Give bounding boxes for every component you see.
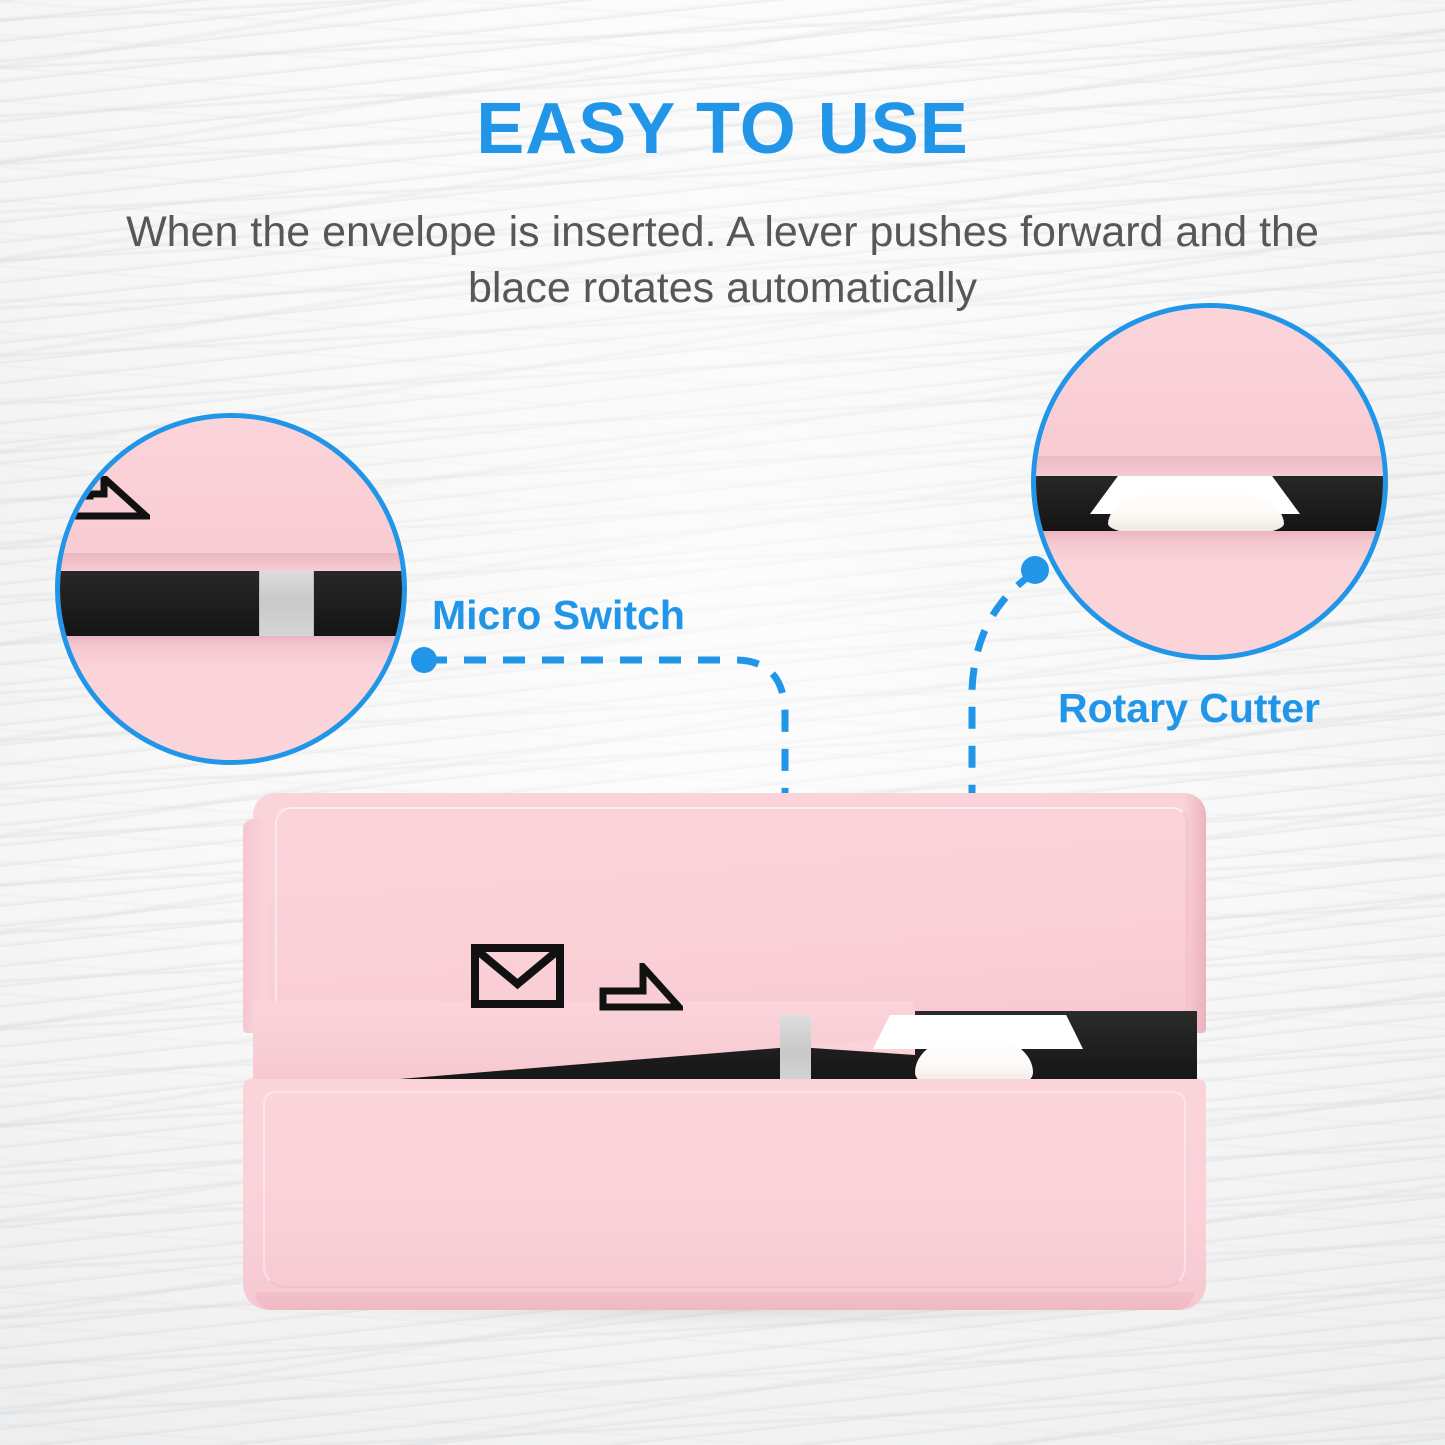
callout-label-rotary-cutter: Rotary Cutter	[1058, 685, 1320, 732]
page-title: EASY TO USE	[0, 92, 1445, 168]
product-base-foot	[255, 1292, 1194, 1310]
callout-label-micro-switch: Micro Switch	[432, 592, 685, 639]
product-micro-switch	[780, 1015, 811, 1089]
magnified-slot-2	[1031, 476, 1388, 531]
infographic-canvas: EASY TO USE When the envelope is inserte…	[0, 0, 1445, 1445]
cut-arrow-icon-lid	[599, 963, 683, 1011]
product-lid-right-shade	[1184, 793, 1206, 1033]
product-lid	[253, 793, 1206, 1033]
magnifier-rotary-cutter-content	[1036, 308, 1383, 655]
magnified-slot	[55, 571, 407, 636]
product-lid-left-flange	[243, 819, 267, 1033]
magnifier-micro-switch	[55, 413, 407, 765]
magnified-lid-lip-2	[1031, 456, 1388, 476]
product-base-inset-border	[263, 1091, 1186, 1288]
product-base	[243, 1079, 1206, 1310]
magnified-lid-surface-2	[1031, 308, 1388, 456]
product-lid-inset-border	[275, 807, 1188, 1033]
envelope-icon	[471, 944, 564, 1008]
magnified-base-surface-2	[1031, 540, 1388, 660]
cut-arrow-icon	[70, 476, 150, 522]
magnified-base-surface	[55, 645, 407, 765]
magnified-micro-switch-block	[259, 571, 314, 636]
magnifier-micro-switch-content	[60, 418, 402, 760]
magnified-lid-lip	[55, 553, 407, 571]
magnified-base-edge-2	[1031, 531, 1388, 540]
product-envelope-opener	[243, 793, 1206, 1310]
magnified-base-edge	[55, 636, 407, 645]
magnifier-rotary-cutter	[1031, 303, 1388, 660]
page-subtitle: When the envelope is inserted. A lever p…	[110, 205, 1335, 317]
